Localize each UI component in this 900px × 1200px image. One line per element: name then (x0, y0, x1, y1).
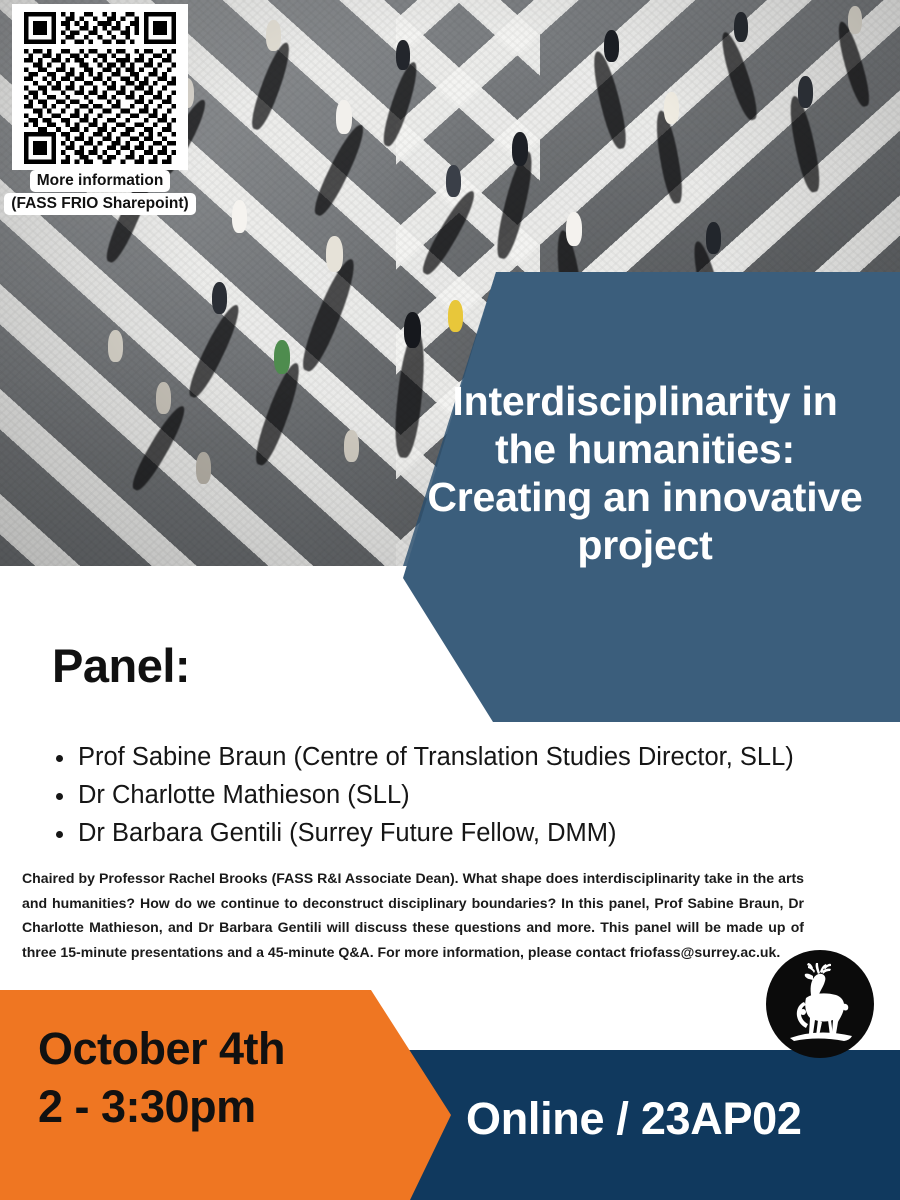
event-time: 2 - 3:30pm (38, 1078, 285, 1136)
qr-code-icon[interactable] (22, 12, 178, 164)
qr-code-block[interactable]: More information (FASS FRIO Sharepoint) (12, 4, 188, 214)
description-paragraph: Chaired by Professor Rachel Brooks (FASS… (22, 866, 804, 964)
title-line-1: Interdisciplinarity in (404, 378, 886, 426)
list-item: Prof Sabine Braun (Centre of Translation… (44, 738, 884, 776)
qr-caption-line-2: (FASS FRIO Sharepoint) (4, 193, 195, 215)
title-line-3: Creating an innovative (404, 474, 886, 522)
poster-title: Interdisciplinarity in the humanities: C… (404, 378, 886, 570)
university-of-surrey-stag-logo (766, 950, 874, 1058)
qr-caption: More information (FASS FRIO Sharepoint) (0, 170, 200, 215)
event-datetime: October 4th 2 - 3:30pm (38, 1020, 285, 1136)
panel-heading: Panel: (52, 638, 190, 693)
list-item: Dr Barbara Gentili (Surrey Future Fellow… (44, 814, 884, 852)
qr-caption-line-1: More information (30, 170, 171, 192)
stag-icon (782, 962, 858, 1046)
event-poster: Interdisciplinarity in the humanities: C… (0, 0, 900, 1200)
event-date: October 4th (38, 1020, 285, 1078)
list-item: Dr Charlotte Mathieson (SLL) (44, 776, 884, 814)
event-venue: Online / 23AP02 (466, 1093, 802, 1145)
panel-members-list: Prof Sabine Braun (Centre of Translation… (44, 738, 884, 852)
title-line-2: the humanities: (404, 426, 886, 474)
title-line-4: project (404, 522, 886, 570)
